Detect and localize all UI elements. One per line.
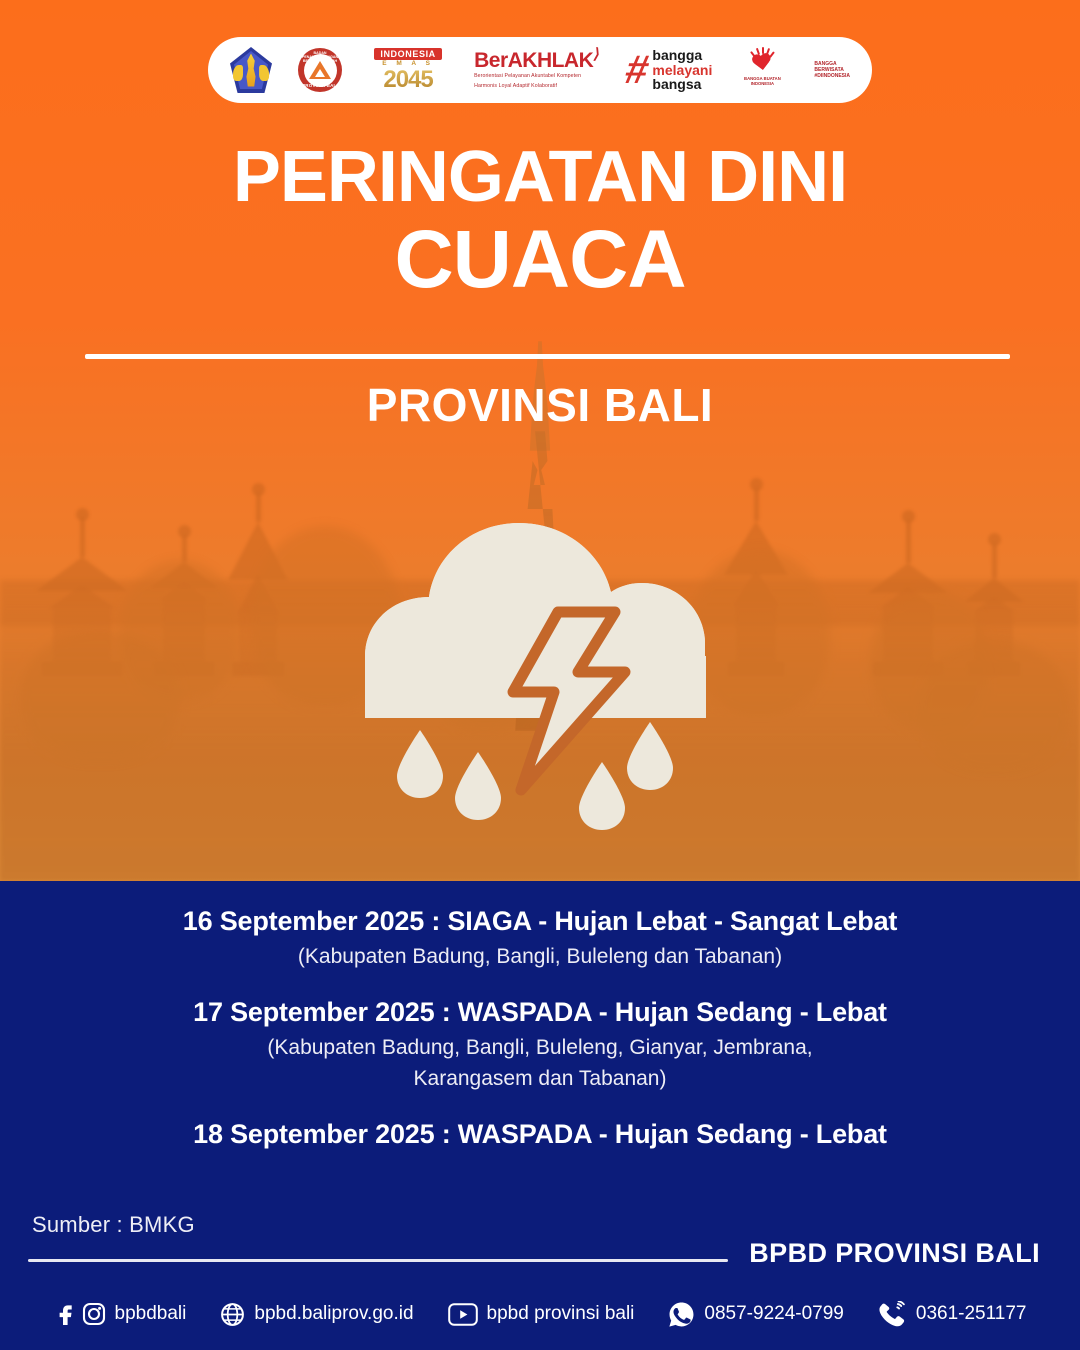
contact-website[interactable]: bpbd.baliprov.go.id <box>220 1302 413 1327</box>
bangga-berwisata-indonesia-logo: BANGGA BERWISATA #DIINDONESIA <box>812 43 850 97</box>
bmb-word-2: melayani <box>652 63 712 77</box>
title-subtitle: PROVINSI BALI <box>0 378 1080 432</box>
contact-social-text: bpbdbali <box>115 1303 187 1325</box>
contact-whatsapp[interactable]: 0857-9224-0799 <box>668 1301 843 1328</box>
contact-social[interactable]: bpbdbali <box>54 1302 187 1326</box>
raindrop-2 <box>455 752 501 820</box>
contact-phone[interactable]: 0361-251177 <box>878 1301 1027 1328</box>
source-label: Sumber : BMKG <box>32 1212 195 1238</box>
government-logo-bar: BADAN PENANGGULANGAN BENCANA DAERAH PROV… <box>208 37 872 103</box>
title-line-1: PERINGATAN DINI <box>0 140 1080 215</box>
thunderstorm-rain-icon <box>325 460 755 840</box>
title-divider <box>85 354 1010 359</box>
alert-regions-line2: Karangasem dan Tabanan) <box>0 1065 1080 1092</box>
whatsapp-icon[interactable] <box>668 1301 695 1328</box>
contact-website-text: bpbd.baliprov.go.id <box>254 1303 413 1325</box>
contact-bar: bpbdbali bpbd.baliprov.go.id bpbd provin… <box>0 1292 1080 1336</box>
contact-whatsapp-text: 0857-9224-0799 <box>704 1303 843 1325</box>
bmb-word-1: bangga <box>652 48 712 62</box>
bali-province-emblem <box>230 43 272 97</box>
alert-headline: 17 September 2025 : WASPADA - Hujan Seda… <box>0 996 1080 1030</box>
facebook-icon[interactable] <box>54 1302 76 1326</box>
bangga-melayani-bangsa-logo: # bangga melayani bangsa <box>626 43 712 97</box>
bangga-buatan-indonesia-logo: BANGGA BUATAN INDONESIA <box>738 43 786 97</box>
alert-list: 16 September 2025 : SIAGA - Hujan Lebat … <box>0 905 1080 1178</box>
bpbd-emblem: BADAN PENANGGULANGAN BENCANA DAERAH PROV… <box>298 43 342 97</box>
indonesia-emas-year: 2045 <box>383 69 432 92</box>
indonesia-emas-band: INDONESIA <box>374 48 441 60</box>
bpbd-emblem-sub-text: PROVINSI BALI <box>298 83 342 88</box>
berakhlak-logo: BerAKHLAK ⟩ Berorientasi Pelayanan Akunt… <box>474 43 600 97</box>
tree-7 <box>920 640 1070 770</box>
poster-title: PERINGATAN DINI CUACA <box>0 140 1080 302</box>
weather-warning-poster: BADAN PENANGGULANGAN BENCANA DAERAH PROV… <box>0 0 1080 1350</box>
alert-headline: 16 September 2025 : SIAGA - Hujan Lebat … <box>0 905 1080 939</box>
raindrop-1 <box>397 730 443 798</box>
heart-icon <box>751 52 773 74</box>
berakhlak-tagline-2: Harmonis Loyal Adaptif Kolaboratif <box>474 83 557 90</box>
alert-headline: 18 September 2025 : WASPADA - Hujan Seda… <box>0 1118 1080 1152</box>
footer-divider <box>28 1259 728 1262</box>
hashtag-icon: # <box>623 54 652 86</box>
bbi-caption-2: INDONESIA <box>751 81 774 86</box>
contact-youtube[interactable]: bpbd provinsi bali <box>448 1303 635 1326</box>
phone-ring-icon[interactable] <box>878 1301 907 1328</box>
alert-item: 17 September 2025 : WASPADA - Hujan Seda… <box>0 996 1080 1092</box>
contact-phone-text: 0361-251177 <box>916 1303 1027 1325</box>
organization-name: BPBD PROVINSI BALI <box>749 1238 1040 1269</box>
title-line-2: CUACA <box>0 217 1080 302</box>
globe-icon[interactable] <box>220 1302 245 1327</box>
indonesia-emas-logo: INDONESIA E M A S 2045 <box>368 43 448 97</box>
berakhlak-tick-icon: ⟩ <box>592 45 601 64</box>
berakhlak-wordmark: BerAKHLAK <box>474 50 593 71</box>
tree-6 <box>20 630 180 760</box>
instagram-icon[interactable] <box>82 1302 106 1326</box>
bbw-caption-3: #DIINDONESIA <box>814 73 850 79</box>
alert-details-section: 16 September 2025 : SIAGA - Hujan Lebat … <box>0 881 1080 1350</box>
contact-youtube-text: bpbd provinsi bali <box>487 1303 635 1325</box>
alert-regions: (Kabupaten Badung, Bangli, Buleleng dan … <box>0 943 1080 970</box>
berakhlak-tagline-1: Berorientasi Pelayanan Akuntabel Kompete… <box>474 73 581 80</box>
youtube-icon[interactable] <box>448 1303 478 1326</box>
alert-item: 16 September 2025 : SIAGA - Hujan Lebat … <box>0 905 1080 970</box>
alert-item: 18 September 2025 : WASPADA - Hujan Seda… <box>0 1118 1080 1152</box>
alert-regions: (Kabupaten Badung, Bangli, Buleleng, Gia… <box>0 1034 1080 1061</box>
raindrop-3 <box>579 762 625 830</box>
raindrop-4 <box>627 722 673 790</box>
bmb-word-3: bangsa <box>652 77 712 91</box>
